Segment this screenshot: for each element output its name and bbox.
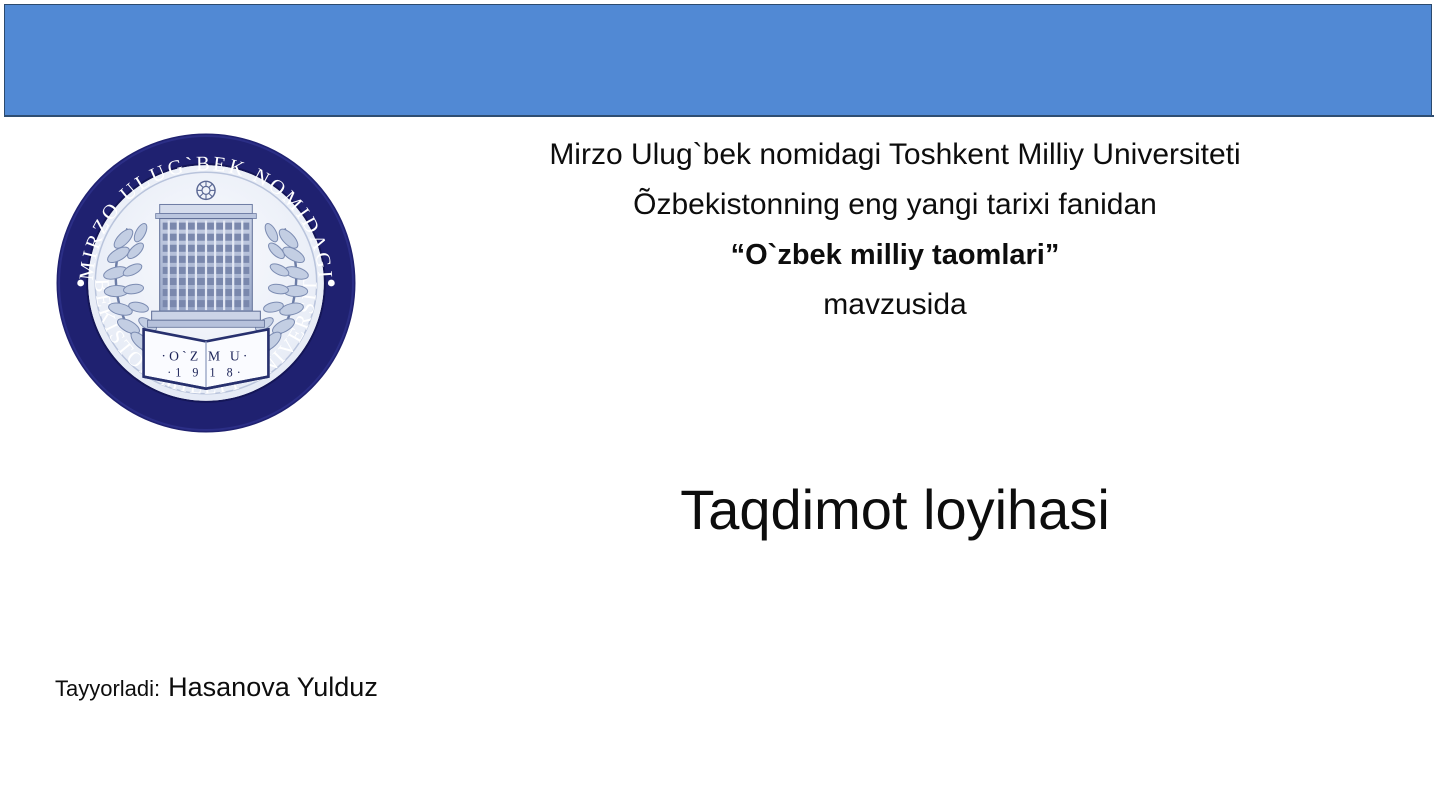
- university-seal-logo: MIRZO ULUG`BEK NOMIDAGI O`ZBEKISTON MILL…: [55, 132, 357, 434]
- header-line-mavzusida: mavzusida: [400, 280, 1390, 330]
- page-title: Taqdimot loyihasi: [400, 476, 1390, 544]
- presentation-slide: MIRZO ULUG`BEK NOMIDAGI O`ZBEKISTON MILL…: [0, 0, 1440, 810]
- header-text-block: Mirzo Ulug`bek nomidagi Toshkent Milliy …: [400, 130, 1390, 330]
- header-line-topic: “O`zbek milliy taomlari”: [400, 230, 1390, 280]
- author-credit: Tayyorladi: Hasanova Yulduz: [55, 672, 378, 704]
- top-banner: [4, 4, 1432, 116]
- banner-underline: [4, 115, 1434, 117]
- header-line-university: Mirzo Ulug`bek nomidagi Toshkent Milliy …: [400, 130, 1390, 180]
- header-line-subject: Õzbekistonning eng yangi tarixi fanidan: [400, 180, 1390, 230]
- author-label: Tayyorladi:: [55, 674, 160, 704]
- svg-text:·1 9 1 8·: ·1 9 1 8·: [167, 366, 245, 380]
- svg-text:·O`Z M U·: ·O`Z M U·: [161, 349, 250, 364]
- author-name: Hasanova Yulduz: [168, 672, 378, 702]
